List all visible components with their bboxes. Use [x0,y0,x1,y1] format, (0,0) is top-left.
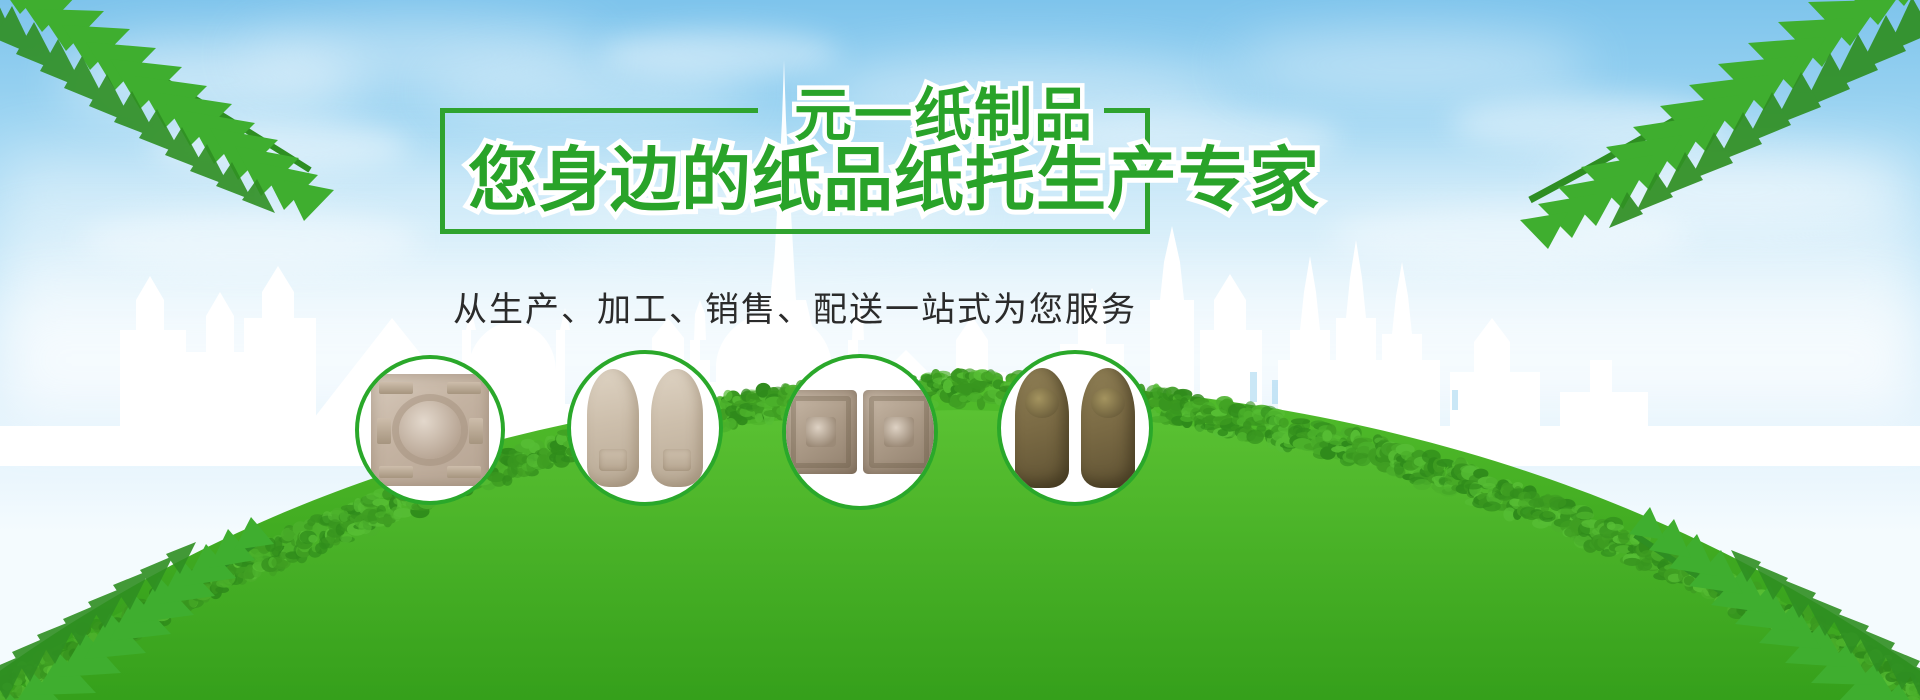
product-circle-molded-pulp-tray[interactable] [355,355,505,505]
molded-pulp-tray-photo [359,359,501,501]
pulp-mold-set-photo [786,358,934,506]
promo-banner: 元一纸制品 您身边的纸品纸托生产专家 从生产、加工、销售、配送一站式为您服务 [0,0,1920,700]
product-circles [0,0,1920,700]
pulp-shoe-tree-photo [571,354,719,502]
product-circle-pulp-mold-set[interactable] [782,354,938,510]
dark-pulp-shoe-photo [1001,354,1149,502]
product-circle-dark-pulp-shoe-pair[interactable] [997,350,1153,506]
product-circle-pulp-shoe-tree-pair[interactable] [567,350,723,506]
